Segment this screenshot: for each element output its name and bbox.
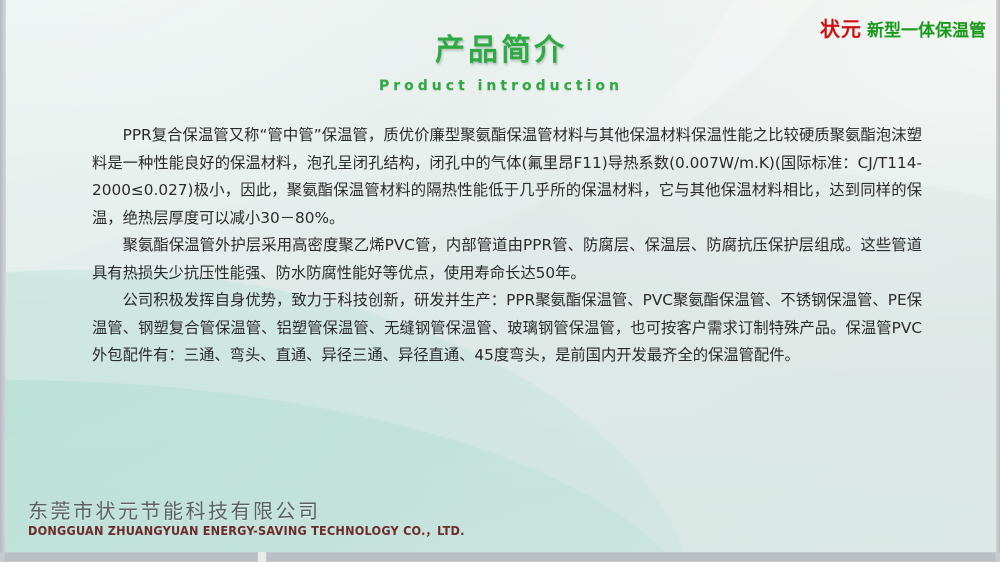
brand-mark-text: 状元 — [820, 19, 862, 39]
horizontal-scrollbar[interactable] — [0, 552, 1000, 562]
brand-logo: 状元 新型一体保温管 — [820, 19, 986, 40]
scrollbar-track-right[interactable] — [267, 553, 995, 561]
paragraph-2: 聚氨酯保温管外护层采用高密度聚乙烯PVC管，内部管道由PPR管、防腐层、保温层、… — [92, 232, 922, 287]
title-block: 产品简介 Product introduction — [6, 34, 996, 94]
slide-canvas: 状元 新型一体保温管 产品简介 Product introduction PPR… — [6, 0, 996, 552]
paragraph-1: PPR复合保温管又称“管中管”保温管，质优价廉型聚氨酯保温管材料与其他保温材料保… — [92, 122, 922, 232]
body-copy: PPR复合保温管又称“管中管”保温管，质优价廉型聚氨酯保温管材料与其他保温材料保… — [92, 122, 922, 370]
document-viewer-frame: 状元 新型一体保温管 产品简介 Product introduction PPR… — [0, 0, 1000, 562]
footer-company-block: 东莞市状元节能科技有限公司 DONGGUAN ZHUANGYUAN ENERGY… — [28, 501, 465, 536]
scrollbar-track-left[interactable] — [5, 553, 257, 561]
paragraph-3: 公司积极发挥自身优势，致力于科技创新，研发并生产：PPR聚氨酯保温管、PVC聚氨… — [92, 287, 922, 370]
brand-word-text: 新型一体保温管 — [867, 23, 986, 40]
page-subtitle: Product introduction — [6, 78, 996, 94]
company-name-cn: 东莞市状元节能科技有限公司 — [28, 501, 465, 521]
scrollbar-thumb[interactable] — [258, 552, 266, 562]
viewer-right-edge — [996, 0, 1000, 552]
company-name-en: DONGGUAN ZHUANGYUAN ENERGY-SAVING TECHNO… — [28, 525, 465, 538]
